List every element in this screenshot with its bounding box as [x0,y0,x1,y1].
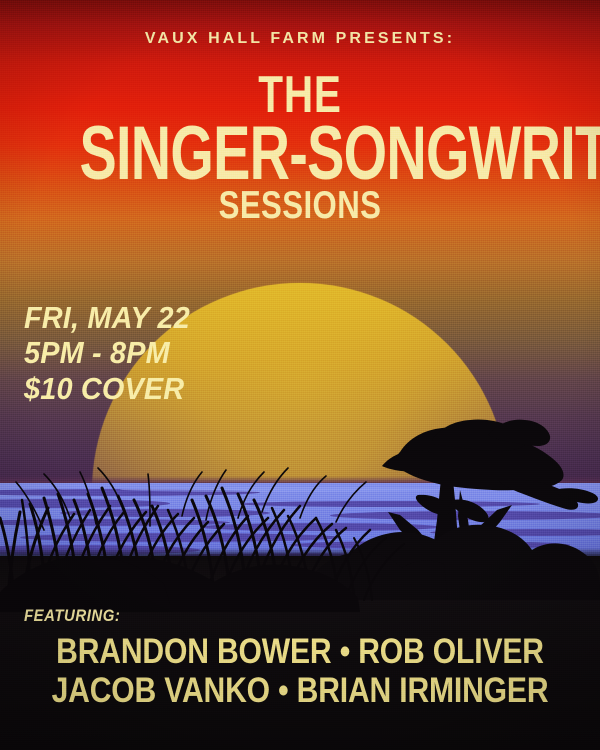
wave-band [430,529,600,536]
title-singer-songwriter: SINGER-SONGWRITER [80,118,521,189]
wave-band [0,519,230,526]
event-details: FRI, MAY 22 5PM - 8PM $10 COVER [24,300,190,406]
presenter-line: VAUX HALL FARM PRESENTS: [0,30,600,48]
event-price: $10 COVER [24,371,190,406]
performer-row: JACOB VANKO • BRIAN IRMINGER [42,671,558,710]
event-date: FRI, MAY 22 [24,300,190,335]
wave-band [20,533,340,542]
wave-band [120,487,450,492]
event-time: 5PM - 8PM [24,335,190,370]
event-poster: VAUX HALL FARM PRESENTS: THE SINGER-SONG… [0,0,600,750]
wave-band [200,523,440,531]
featuring-label: FEATURING: [24,606,120,626]
wave-band [60,509,270,517]
wave-band [330,511,600,520]
wave-band [240,501,540,507]
performer-row: BRANDON BOWER • ROB OLIVER [42,632,558,671]
title-sessions: SESSIONS [60,186,540,225]
wave-band [0,499,170,508]
performer-list: BRANDON BOWER • ROB OLIVER JACOB VANKO •… [0,632,600,710]
